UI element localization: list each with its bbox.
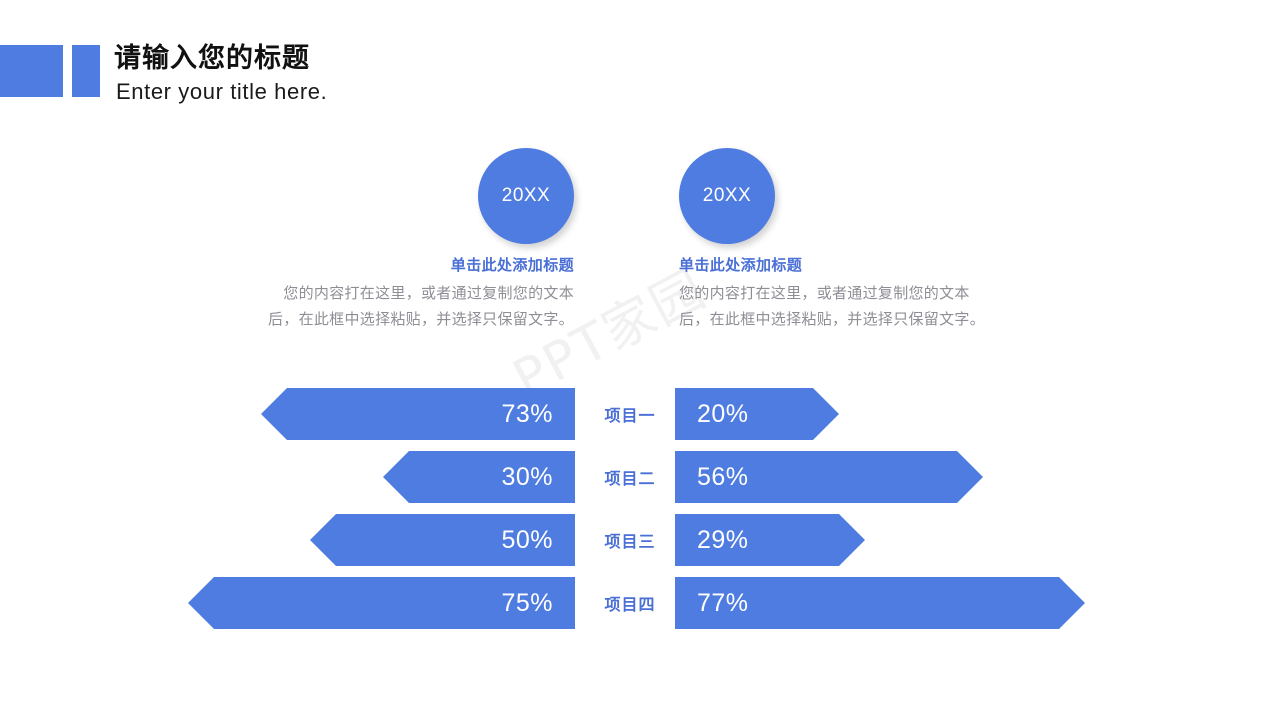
chart-row: 50% 项目三 29%: [0, 514, 1280, 566]
text-panel-right-body: 您的内容打在这里，或者通过复制您的文本后，在此框中选择粘贴，并选择只保留文字。: [679, 280, 991, 332]
slide-header: 请输入您的标题 Enter your title here.: [0, 0, 1280, 130]
year-badge-right[interactable]: 20XX: [679, 148, 775, 244]
text-panel-right-heading: 单击此处添加标题: [679, 254, 991, 276]
chart-row: 75% 项目四 77%: [0, 577, 1280, 629]
bar-right-value: 29%: [697, 526, 749, 555]
category-label: 项目二: [590, 451, 670, 503]
bar-right-value: 77%: [697, 589, 749, 618]
chart-row: 30% 项目二 56%: [0, 451, 1280, 503]
header-accent-block-small: [72, 45, 100, 97]
category-label: 项目四: [590, 577, 670, 629]
page-subtitle: Enter your title here.: [116, 78, 327, 106]
bar-left[interactable]: 50%: [310, 514, 575, 566]
bar-right-value: 56%: [697, 463, 749, 492]
text-panel-left-heading: 单击此处添加标题: [262, 254, 574, 276]
bar-left-value: 50%: [501, 526, 553, 555]
page-title: 请输入您的标题: [114, 42, 310, 76]
text-panel-right: 单击此处添加标题 您的内容打在这里，或者通过复制您的文本后，在此框中选择粘贴，并…: [679, 254, 991, 332]
year-badge-right-label: 20XX: [703, 185, 751, 207]
bar-right[interactable]: 29%: [675, 514, 865, 566]
bar-left[interactable]: 30%: [383, 451, 575, 503]
category-label: 项目三: [590, 514, 670, 566]
category-label: 项目一: [590, 388, 670, 440]
bar-left-value: 75%: [501, 589, 553, 618]
bar-left-value: 30%: [501, 463, 553, 492]
bar-right[interactable]: 77%: [675, 577, 1085, 629]
header-accent-block-large: [0, 45, 63, 97]
bar-right-value: 20%: [697, 400, 749, 429]
bar-left[interactable]: 75%: [188, 577, 575, 629]
text-panel-left: 单击此处添加标题 您的内容打在这里，或者通过复制您的文本后，在此框中选择粘贴，并…: [262, 254, 574, 332]
text-panel-left-body: 您的内容打在这里，或者通过复制您的文本后，在此框中选择粘贴，并选择只保留文字。: [262, 280, 574, 332]
bar-right[interactable]: 20%: [675, 388, 839, 440]
bar-left[interactable]: 73%: [261, 388, 575, 440]
chart-row: 73% 项目一 20%: [0, 388, 1280, 440]
year-badge-left[interactable]: 20XX: [478, 148, 574, 244]
year-badge-left-label: 20XX: [502, 185, 550, 207]
bar-left-value: 73%: [501, 400, 553, 429]
bar-right[interactable]: 56%: [675, 451, 983, 503]
